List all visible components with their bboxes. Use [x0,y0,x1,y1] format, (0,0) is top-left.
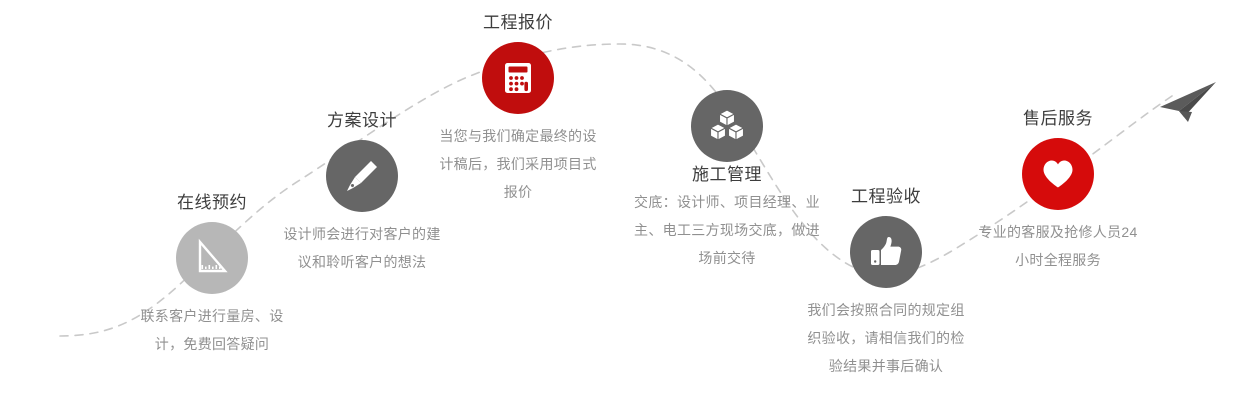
flow-step-project-quotation[interactable]: 工程报价 [428,12,608,206]
stacked-boxes-icon-badge [691,90,763,162]
process-flow-infographic: 在线预约 联系客户进行量房、设计，免费回答疑问 方案设计 [0,0,1245,402]
step-title: 工程验收 [796,186,976,208]
flow-step-project-acceptance[interactable]: 工程验收 我们会按照合同的规定组织验收，请相信我们的检验结果并事后确认 [796,186,976,380]
step-description: 当您与我们确定最终的设计稿后，我们采用项目式报价 [428,122,608,206]
stacked-boxes-icon [706,105,748,147]
flow-step-scheme-design[interactable]: 方案设计 设计师会进行对客户的建议和聆听客户的想法 [272,110,452,276]
step-title: 售后服务 [968,108,1148,130]
step-title: 工程报价 [428,12,608,34]
step-description: 联系客户进行量房、设计，免费回答疑问 [122,302,302,358]
heart-icon [1038,154,1078,194]
step-title: 施工管理 [632,164,822,186]
step-description: 我们会按照合同的规定组织验收，请相信我们的检验结果并事后确认 [796,296,976,380]
fountain-pen-icon-badge [326,140,398,212]
paper-plane-icon [1148,78,1226,139]
step-description: 专业的客服及抢修人员24小时全程服务 [968,218,1148,274]
step-title: 方案设计 [272,110,452,132]
triangle-ruler-icon [192,238,232,278]
heart-icon-badge [1022,138,1094,210]
thumbs-up-icon [865,231,907,273]
thumbs-up-icon-badge [850,216,922,288]
step-description: 设计师会进行对客户的建议和聆听客户的想法 [272,220,452,276]
calculator-icon [498,58,538,98]
triangle-ruler-icon-badge [176,222,248,294]
flow-step-after-sales-service[interactable]: 售后服务 专业的客服及抢修人员24小时全程服务 [968,108,1148,274]
step-description: 交底：设计师、项目经理、业主、电工三方现场交底，做进场前交待 [632,188,822,272]
flow-step-construction-management[interactable]: 施工管理 交底：设计师、项目经理、业主、电工三方现场交底，做进场前交待 [632,90,822,272]
calculator-icon-badge [482,42,554,114]
fountain-pen-icon [341,155,383,197]
